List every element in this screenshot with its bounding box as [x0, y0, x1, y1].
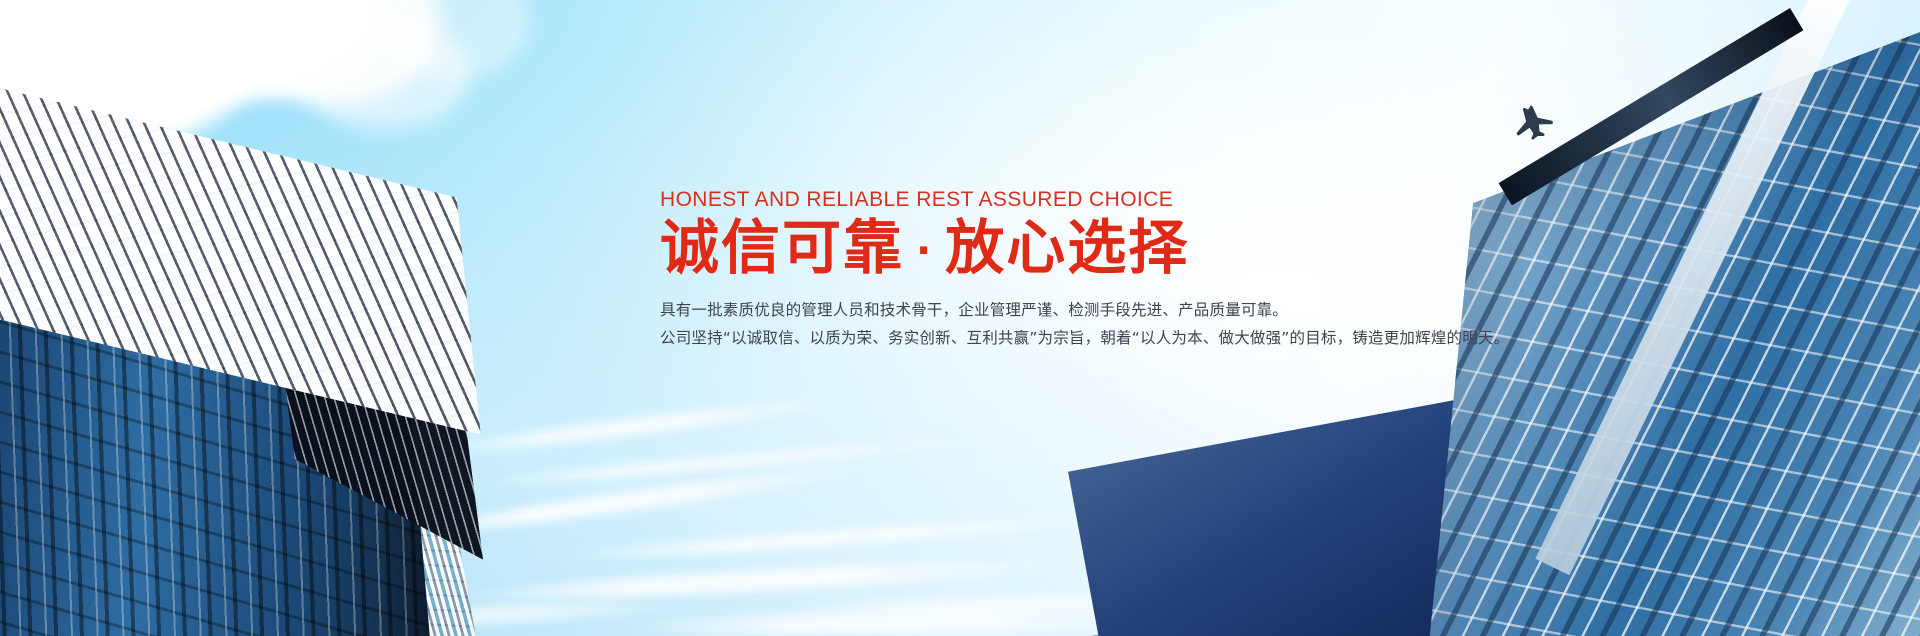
banner-copy-block: HONEST AND RELIABLE REST ASSURED CHOICE … — [660, 188, 1480, 353]
headline-separator-dot: · — [904, 228, 945, 274]
banner-description: 具有一批素质优良的管理人员和技术骨干，企业管理严谨、检测手段先进、产品质量可靠。… — [660, 296, 1480, 353]
headline-part-right: 放心选择 — [945, 213, 1189, 282]
headline-part-left: 诚信可靠 — [660, 213, 904, 282]
description-line-1: 具有一批素质优良的管理人员和技术骨干，企业管理严谨、检测手段先进、产品质量可靠。 — [660, 296, 1480, 325]
hero-banner: HONEST AND RELIABLE REST ASSURED CHOICE … — [0, 0, 1920, 636]
page-title: 诚信可靠·放心选择 — [660, 216, 1480, 280]
glass-skyscraper-left — [0, 60, 520, 636]
banner-eyebrow: HONEST AND RELIABLE REST ASSURED CHOICE — [660, 188, 1480, 212]
description-line-2: 公司坚持“以诚取信、以质为荣、务实创新、互利共赢”为宗旨，朝着“以人为本、做大做… — [660, 324, 1480, 353]
